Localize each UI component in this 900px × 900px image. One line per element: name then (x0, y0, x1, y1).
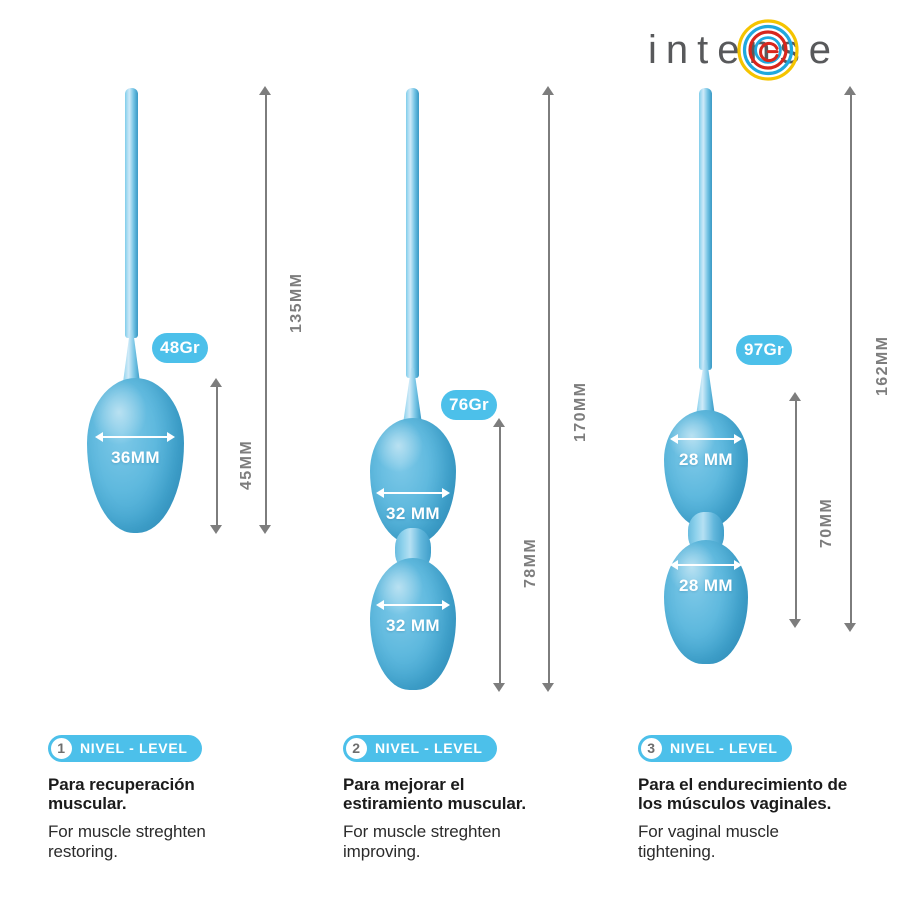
product-1-weight-badge: 48Gr (152, 333, 208, 363)
product-1-body-height-label: 45MM (238, 440, 256, 490)
level-badge-3: 3 NIVEL - LEVEL (638, 735, 792, 762)
level-number-1: 1 (49, 736, 74, 761)
product-3-width-arrow-upper (670, 432, 742, 446)
caption-level-1: 1 NIVEL - LEVEL Para recuperación muscul… (48, 735, 333, 862)
product-3-total-height-arrow (840, 86, 862, 632)
product-column-3: 28 MM 28 MM 97Gr 70MM 162MM (600, 0, 900, 720)
product-2-weight-badge: 76Gr (441, 390, 497, 420)
caption-spanish-3: Para el endurecimiento de los músculos v… (638, 775, 900, 813)
product-3-width-label-upper: 28 MM (660, 450, 752, 470)
product-3-cord (699, 88, 712, 370)
product-2-total-height-arrow (538, 86, 560, 692)
product-1-body-height-arrow (206, 378, 228, 534)
product-2-width-label-upper: 32 MM (366, 504, 460, 524)
level-text-3: NIVEL - LEVEL (670, 740, 778, 756)
product-3-weight-badge: 97Gr (736, 335, 792, 365)
infographic-canvas: intense 36MM 48Gr (0, 0, 900, 900)
caption-spanish-1: Para recuperación muscular. (48, 775, 333, 813)
level-number-3: 3 (639, 736, 664, 761)
caption-english-3: For vaginal muscle tightening. (638, 822, 900, 862)
caption-level-3: 3 NIVEL - LEVEL Para el endurecimiento d… (638, 735, 900, 862)
caption-level-2: 2 NIVEL - LEVEL Para mejorar el estirami… (343, 735, 628, 862)
level-badge-2: 2 NIVEL - LEVEL (343, 735, 497, 762)
level-number-2: 2 (344, 736, 369, 761)
product-2-bulb-upper (370, 418, 456, 544)
product-2-cord (406, 88, 419, 378)
product-column-2: 32 MM 32 MM 76Gr 78MM 170MM (300, 0, 600, 720)
product-3-body-height-arrow (785, 392, 807, 628)
product-3-total-height-label: 162MM (874, 336, 892, 396)
product-2-body-height-arrow (489, 418, 511, 692)
product-column-1: 36MM 48Gr 45MM 135MM (0, 0, 300, 720)
level-text-2: NIVEL - LEVEL (375, 740, 483, 756)
product-2-width-label-lower: 32 MM (366, 616, 460, 636)
level-badge-1: 1 NIVEL - LEVEL (48, 735, 202, 762)
caption-english-1: For muscle streghten restoring. (48, 822, 333, 862)
level-text-1: NIVEL - LEVEL (80, 740, 188, 756)
product-1-cord (125, 88, 138, 338)
caption-spanish-2: Para mejorar el estiramiento muscular. (343, 775, 628, 813)
product-2-width-arrow-upper (376, 486, 450, 500)
product-1-width-label: 36MM (87, 448, 184, 468)
product-1-total-height-arrow (255, 86, 277, 534)
product-2-total-height-label: 170MM (572, 382, 590, 442)
caption-english-2: For muscle streghten improving. (343, 822, 628, 862)
product-3-body-height-label: 70MM (818, 498, 836, 548)
product-3-width-arrow-lower (670, 558, 742, 572)
product-1-width-arrow (95, 430, 175, 444)
product-2-width-arrow-lower (376, 598, 450, 612)
product-3-width-label-lower: 28 MM (660, 576, 752, 596)
